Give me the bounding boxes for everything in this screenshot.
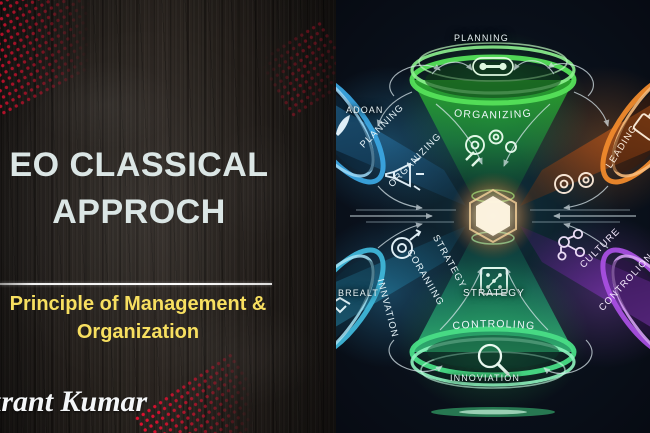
title-line-2: APPROCH [0, 189, 304, 236]
hexagon-glow-core [449, 172, 537, 260]
subtitle-line-1: Principle of Management & [0, 290, 298, 318]
infographic-panel: ORGANIZING CONTROLING PLANNING ORGANIZIN… [336, 0, 650, 433]
author-name: ikrant Kumar [0, 385, 147, 419]
slide-canvas: EO CLASSICAL APPROCH Principle of Manage… [0, 0, 650, 433]
title-line-1: EO CLASSICAL [0, 142, 304, 189]
left-title-panel: EO CLASSICAL APPROCH Principle of Manage… [0, 0, 336, 433]
subtitle-line-2: Organization [0, 318, 298, 346]
subtitle: Principle of Management & Organization [0, 290, 298, 347]
page-title: EO CLASSICAL APPROCH [0, 142, 304, 236]
management-cycle-diagram [336, 0, 650, 433]
title-divider [0, 283, 272, 285]
bottom-glow-core [459, 410, 527, 415]
